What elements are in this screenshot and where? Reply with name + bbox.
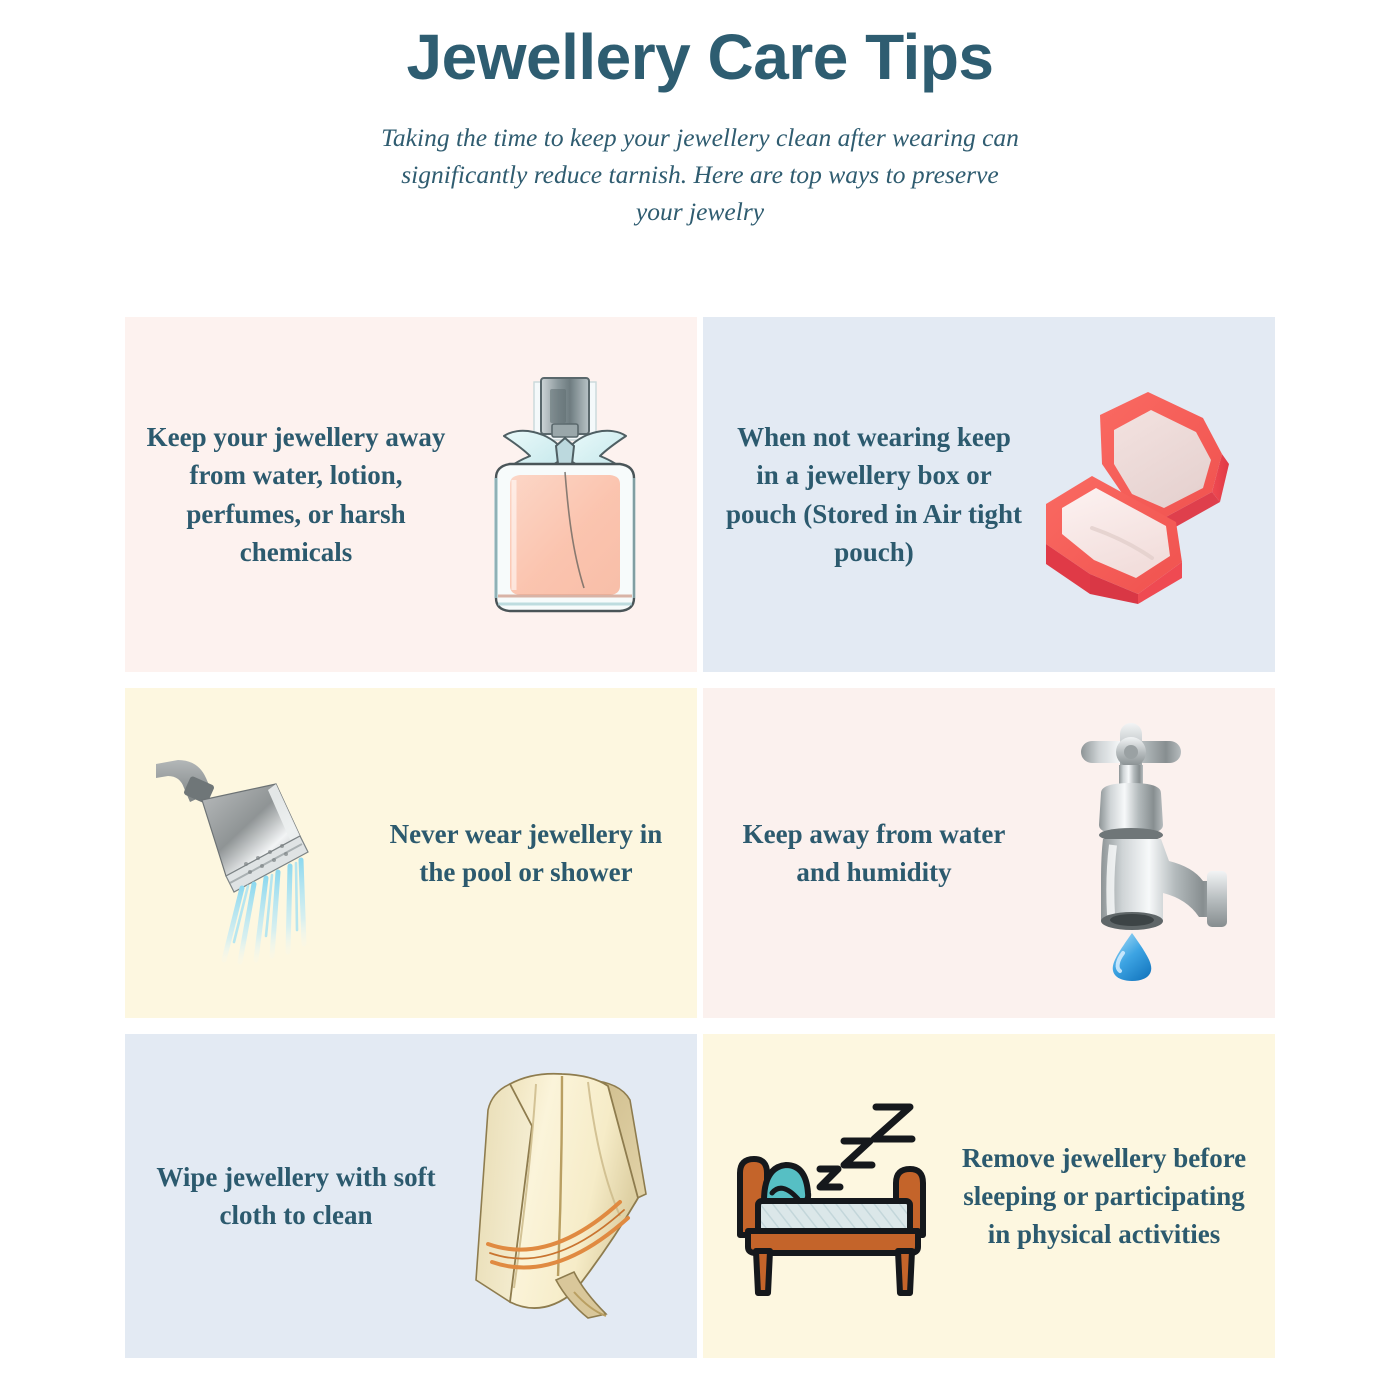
- shower-head-icon: [142, 688, 372, 1018]
- tip-card-6-label: Remove jewellery before sleeping or part…: [950, 1139, 1258, 1254]
- tip-card-4: Keep away from water and humidity: [703, 688, 1275, 1018]
- tip-card-1: Keep your jewellery away from water, lot…: [125, 317, 697, 672]
- tip-card-3-label: Never wear jewellery in the pool or show…: [372, 815, 680, 892]
- tip-card-6: Remove jewellery before sleeping or part…: [703, 1034, 1275, 1358]
- tip-card-5-label: Wipe jewellery with soft cloth to clean: [142, 1158, 450, 1235]
- cloth-icon: [450, 1034, 680, 1358]
- ring-box-icon: [1028, 317, 1258, 672]
- tips-grid: Keep your jewellery away from water, lot…: [125, 317, 1275, 1358]
- tip-card-2-label: When not wearing keep in a jewellery box…: [720, 418, 1028, 571]
- bed-sleeping-icon: [720, 1034, 950, 1358]
- tip-card-5: Wipe jewellery with soft cloth to clean: [125, 1034, 697, 1358]
- faucet-drip-icon: [1028, 688, 1258, 1018]
- tip-card-4-label: Keep away from water and humidity: [720, 815, 1028, 892]
- page-subtitle: Taking the time to keep your jewellery c…: [380, 120, 1020, 231]
- header: Jewellery Care Tips Taking the time to k…: [0, 0, 1400, 231]
- tip-card-1-label: Keep your jewellery away from water, lot…: [142, 418, 450, 571]
- tip-card-3: Never wear jewellery in the pool or show…: [125, 688, 697, 1018]
- infographic-page: Jewellery Care Tips Taking the time to k…: [0, 0, 1400, 1400]
- tip-card-2: When not wearing keep in a jewellery box…: [703, 317, 1275, 672]
- page-title: Jewellery Care Tips: [0, 22, 1400, 94]
- perfume-bottle-icon: [450, 317, 680, 672]
